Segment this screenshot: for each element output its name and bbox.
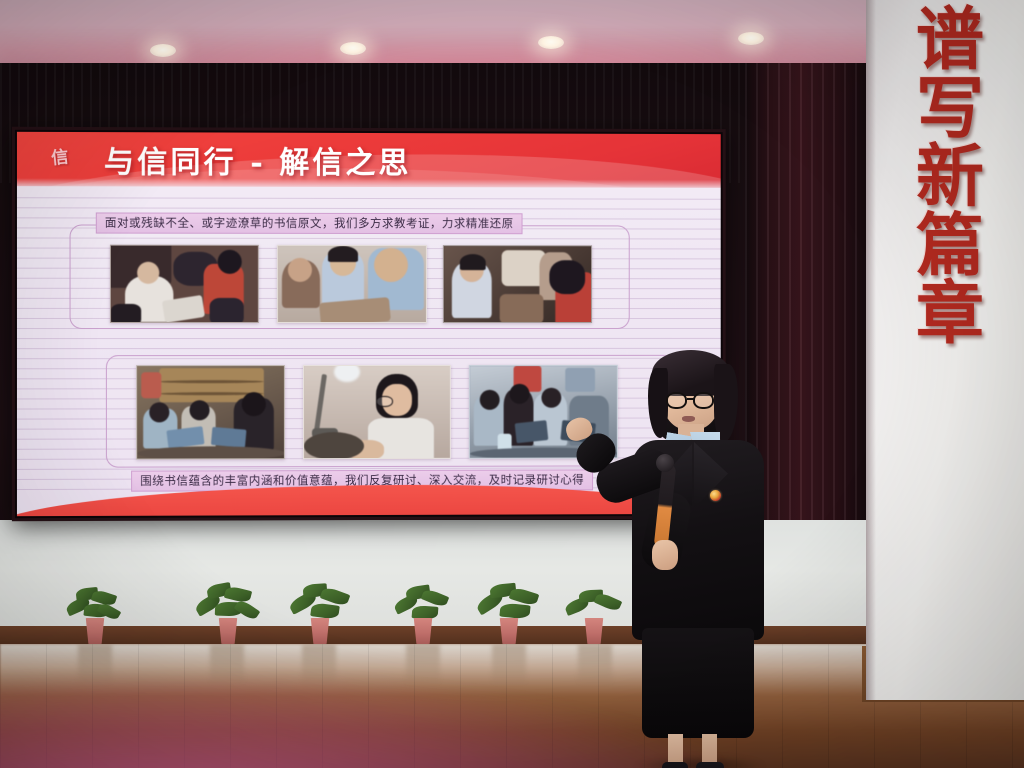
potted-plant	[62, 582, 128, 644]
downlight-3	[538, 36, 564, 49]
slide-caption-top: 面对或残缺不全、或字迹潦草的书信原文，我们多方求教考证，力求精准还原	[96, 212, 523, 234]
logo-mark: 信	[50, 149, 69, 169]
glasses-left-lens	[666, 392, 687, 409]
glasses-bridge	[687, 398, 694, 400]
glasses-right-lens	[693, 392, 714, 409]
plant-pot	[84, 618, 106, 644]
plant-pot	[498, 618, 520, 644]
presenter-badge-pin	[710, 490, 721, 501]
calligraphy-char-3: 新	[916, 145, 984, 210]
photo-top-3	[443, 245, 592, 323]
downlight-4	[738, 32, 764, 45]
presenter-boot-left	[662, 762, 688, 768]
slide-logo: 信	[31, 138, 88, 180]
photo-top-1	[110, 245, 259, 323]
potted-plant	[282, 578, 358, 644]
potted-plant	[388, 580, 458, 644]
presenter-skirt	[642, 628, 754, 738]
calligraphy-char-4: 篇	[916, 214, 984, 279]
plant-pot	[412, 618, 434, 644]
stage-scene: 信 与信同行 - 解信之思	[0, 0, 1024, 768]
calligraphy-char-5: 章	[916, 282, 984, 347]
photo-top-2	[277, 245, 427, 323]
plant-pot	[309, 618, 331, 644]
presenter-hair-left	[648, 368, 668, 438]
downlight-1	[150, 44, 176, 57]
presenter-hair-right	[714, 364, 738, 442]
presenter-boot-right	[696, 762, 724, 768]
potted-plant	[192, 576, 264, 644]
presenter-mic-hand	[652, 540, 678, 570]
calligraphy-char-2: 写	[916, 77, 984, 142]
calligraphy-char-1: 谱	[916, 8, 984, 73]
right-wall-edge	[866, 0, 876, 700]
presenter-mouth	[682, 416, 695, 422]
presenter	[590, 352, 790, 750]
potted-plant	[470, 576, 548, 644]
plant-pot	[217, 618, 239, 644]
photo-bottom-1	[136, 365, 285, 459]
slide-title: 与信同行 - 解信之思	[104, 137, 411, 182]
wall-calligraphy: 谱 写 新 篇 章	[904, 8, 996, 347]
downlight-2	[340, 42, 366, 55]
photo-bottom-2	[303, 365, 451, 459]
